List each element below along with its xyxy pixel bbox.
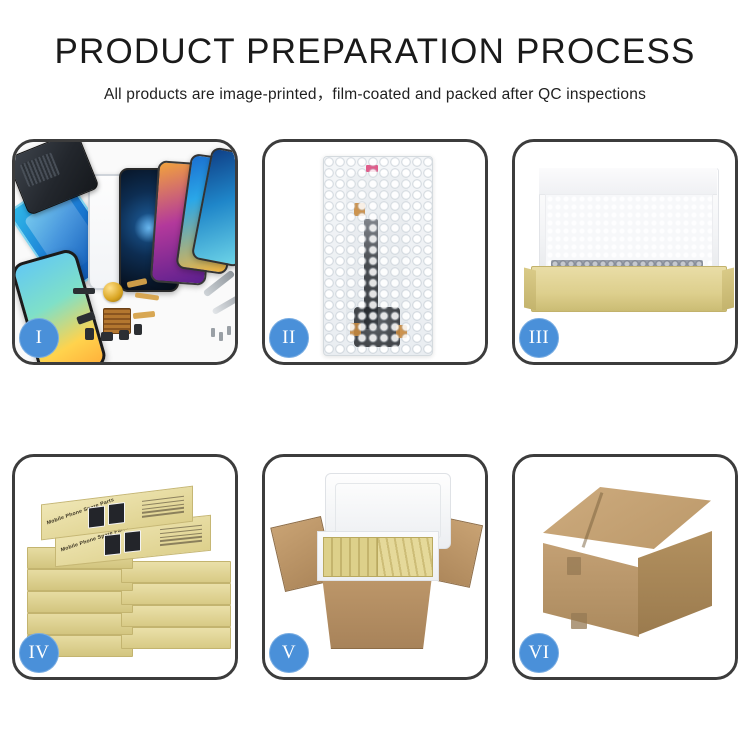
page-title: PRODUCT PREPARATION PROCESS <box>0 34 750 71</box>
screw-icon <box>227 326 231 335</box>
connector <box>354 203 365 216</box>
screw-icon <box>219 332 223 341</box>
bubble-wrap-bag <box>323 156 433 356</box>
stacked-box <box>121 561 231 583</box>
steps-grid: I II <box>0 135 750 685</box>
spare-part <box>73 288 95 294</box>
step-panel-6[interactable]: VI <box>512 454 738 680</box>
speaker-coil-icon <box>103 282 123 302</box>
stacked-box <box>121 627 231 649</box>
step-cell-3: III <box>500 135 750 370</box>
stacked-box <box>121 583 231 605</box>
yellow-box-tray <box>531 266 727 312</box>
carton-front-face <box>543 543 639 637</box>
flex-cable <box>135 292 159 300</box>
step-badge-1: I <box>19 318 59 358</box>
step-cell-4: Mobile Phone Spare Parts Mobile Phone Sp… <box>0 450 250 685</box>
step-panel-4[interactable]: Mobile Phone Spare Parts Mobile Phone Sp… <box>12 454 238 680</box>
carton-top-face <box>543 487 711 549</box>
screwdriver-icon <box>212 295 235 315</box>
spare-part <box>85 328 94 340</box>
pink-label-tag <box>366 165 378 172</box>
step-cell-5: V <box>250 450 500 685</box>
step-badge-5: V <box>269 633 309 673</box>
step-cell-2: II <box>250 135 500 370</box>
box-label-spec-lines <box>142 496 184 520</box>
connector <box>396 325 407 338</box>
step-cell-6: VI <box>500 450 750 685</box>
step-panel-1[interactable]: I <box>12 139 238 365</box>
flex-cable <box>133 311 156 319</box>
step-panel-5[interactable]: V <box>262 454 488 680</box>
box-label-screen-image <box>88 505 105 528</box>
box-label-screen-image <box>108 502 125 525</box>
page-subtitle: All products are image-printed，film-coat… <box>0 82 750 104</box>
product-preparation-infographic: PRODUCT PREPARATION PROCESS All products… <box>0 0 750 750</box>
carton-tape-patch <box>571 613 587 629</box>
yellow-boxes-row <box>377 537 433 577</box>
box-stack: Mobile Phone Spare Parts Mobile Phone Sp… <box>25 485 231 655</box>
step-panel-3[interactable]: III <box>512 139 738 365</box>
box-lid-fold <box>539 168 717 195</box>
connector <box>350 323 361 336</box>
stacked-box <box>27 613 133 635</box>
spare-part <box>101 332 113 341</box>
step-badge-6: VI <box>519 633 559 673</box>
screw-icon <box>211 328 215 337</box>
box-label-screen-image <box>124 530 141 553</box>
stacked-box <box>27 569 133 591</box>
step-panel-2[interactable]: II <box>262 139 488 365</box>
step-badge-3: III <box>519 318 559 358</box>
carton-tape-patch <box>567 557 581 575</box>
header: PRODUCT PREPARATION PROCESS All products… <box>0 0 750 104</box>
spare-part <box>119 330 129 340</box>
step-badge-4: IV <box>19 633 59 673</box>
stacked-box <box>27 591 133 613</box>
step-badge-2: II <box>269 318 309 358</box>
stacked-box <box>121 605 231 627</box>
box-label-screen-image <box>104 533 121 556</box>
box-label-spec-lines <box>160 525 202 548</box>
spare-part <box>134 324 142 335</box>
step-cell-1: I <box>0 135 250 370</box>
